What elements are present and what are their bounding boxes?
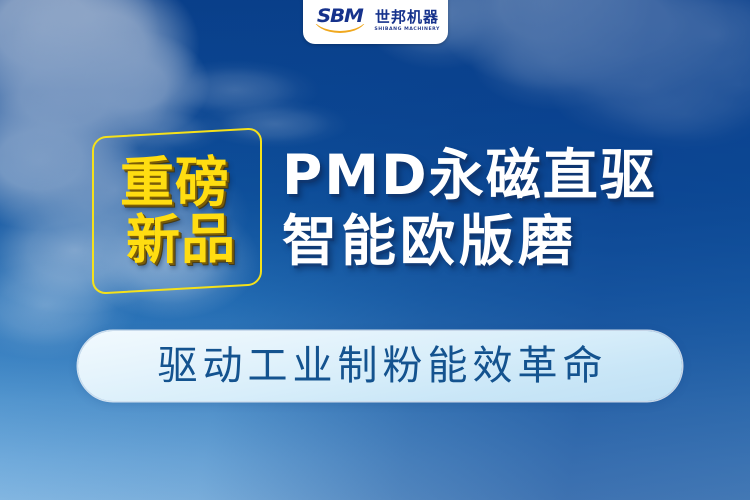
swoosh-underline-icon [313, 24, 367, 34]
sbm-wordmark-text: SBM [317, 6, 363, 26]
company-logo-plate: SBM 世邦机器 SHIBANG MACHINERY [303, 0, 448, 44]
subtitle-text: 驱动工业制粉能效革命 [153, 346, 608, 386]
new-product-badge: 重磅 新品 [92, 132, 262, 290]
subtitle-pill: 驱动工业制粉能效革命 [78, 331, 682, 401]
headline-line-1: PMD永磁直驱 [282, 142, 672, 208]
badge-line-2: 新品 [126, 211, 236, 268]
company-name-block: 世邦机器 SHIBANG MACHINERY [375, 10, 439, 33]
company-name-cn: 世邦机器 [375, 10, 439, 25]
headline-block: PMD永磁直驱 智能欧版磨 [282, 142, 672, 274]
promo-banner: SBM 世邦机器 SHIBANG MACHINERY 重磅 新品 PMD永磁直驱… [0, 0, 750, 500]
sbm-logomark: SBM [312, 6, 368, 36]
company-name-en: SHIBANG MACHINERY [374, 28, 440, 33]
headline-line-2: 智能欧版磨 [282, 208, 672, 274]
badge-line-1: 重磅 [120, 155, 230, 210]
